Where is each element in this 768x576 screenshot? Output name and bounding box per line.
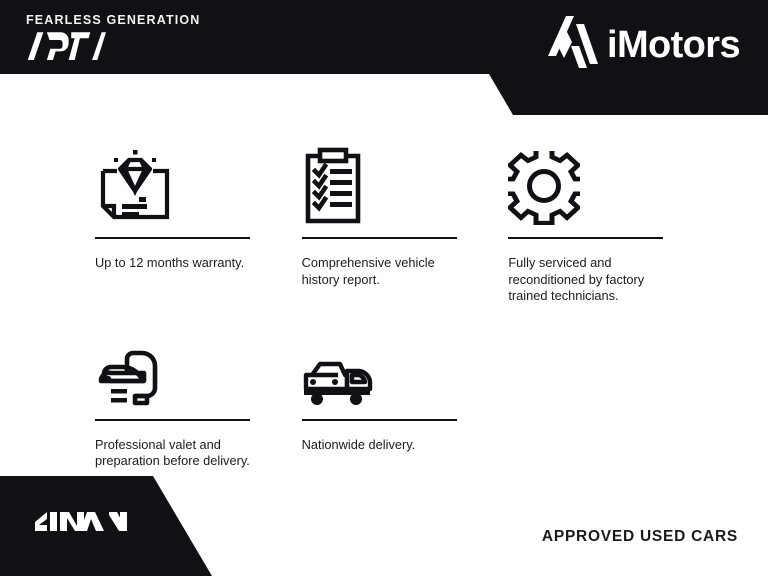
feature-icon-wrapper <box>95 335 257 407</box>
vacuum-cleaner-icon <box>95 345 173 407</box>
feature-icon-wrapper <box>302 335 464 407</box>
kia-logo-icon <box>34 508 138 535</box>
feature-divider <box>95 419 250 421</box>
feature-divider <box>95 237 250 239</box>
feature-item-serviced: Fully serviced and reconditioned by fact… <box>508 133 715 305</box>
feature-icon-wrapper <box>95 133 257 225</box>
feature-text: Fully serviced and reconditioned by fact… <box>508 255 668 305</box>
feature-row-1: Up to 12 months warranty. <box>95 133 715 305</box>
feature-row-2: Professional valet and preparation befor… <box>95 335 715 470</box>
imotors-wordmark: iMotors <box>607 24 740 66</box>
feature-text: Up to 12 months warranty. <box>95 255 255 272</box>
gear-icon <box>508 151 580 225</box>
feature-item-history-report: Comprehensive vehicle history report. <box>302 133 509 305</box>
campaign-lockup: FEARLESS GENERATION <box>26 13 256 68</box>
car-transporter-truck-icon <box>302 355 374 407</box>
feature-divider <box>302 419 457 421</box>
clipboard-checklist-icon <box>302 147 364 225</box>
feature-text: Comprehensive vehicle history report. <box>302 255 462 288</box>
feature-grid: Up to 12 months warranty. <box>95 133 715 470</box>
feature-item-delivery: Nationwide delivery. <box>302 335 509 470</box>
feature-item-valet: Professional valet and preparation befor… <box>95 335 302 470</box>
footer-tagline: APPROVED USED CARS <box>542 528 738 546</box>
feature-icon-wrapper <box>302 133 464 225</box>
campaign-label: FEARLESS GENERATION <box>26 13 256 27</box>
imotors-chevron-logo-icon <box>546 16 598 74</box>
imotors-brand-lockup: iMotors <box>546 16 740 74</box>
feature-text: Nationwide delivery. <box>302 437 462 454</box>
feature-divider <box>508 237 663 239</box>
diamond-certificate-icon <box>95 147 175 225</box>
feature-icon-wrapper <box>508 133 670 225</box>
promo-banner: FEARLESS GENERATION iMotors <box>0 0 768 576</box>
feature-item-warranty: Up to 12 months warranty. <box>95 133 302 305</box>
1971-wordmark-icon <box>26 30 106 64</box>
feature-divider <box>302 237 457 239</box>
feature-text: Professional valet and preparation befor… <box>95 437 255 470</box>
